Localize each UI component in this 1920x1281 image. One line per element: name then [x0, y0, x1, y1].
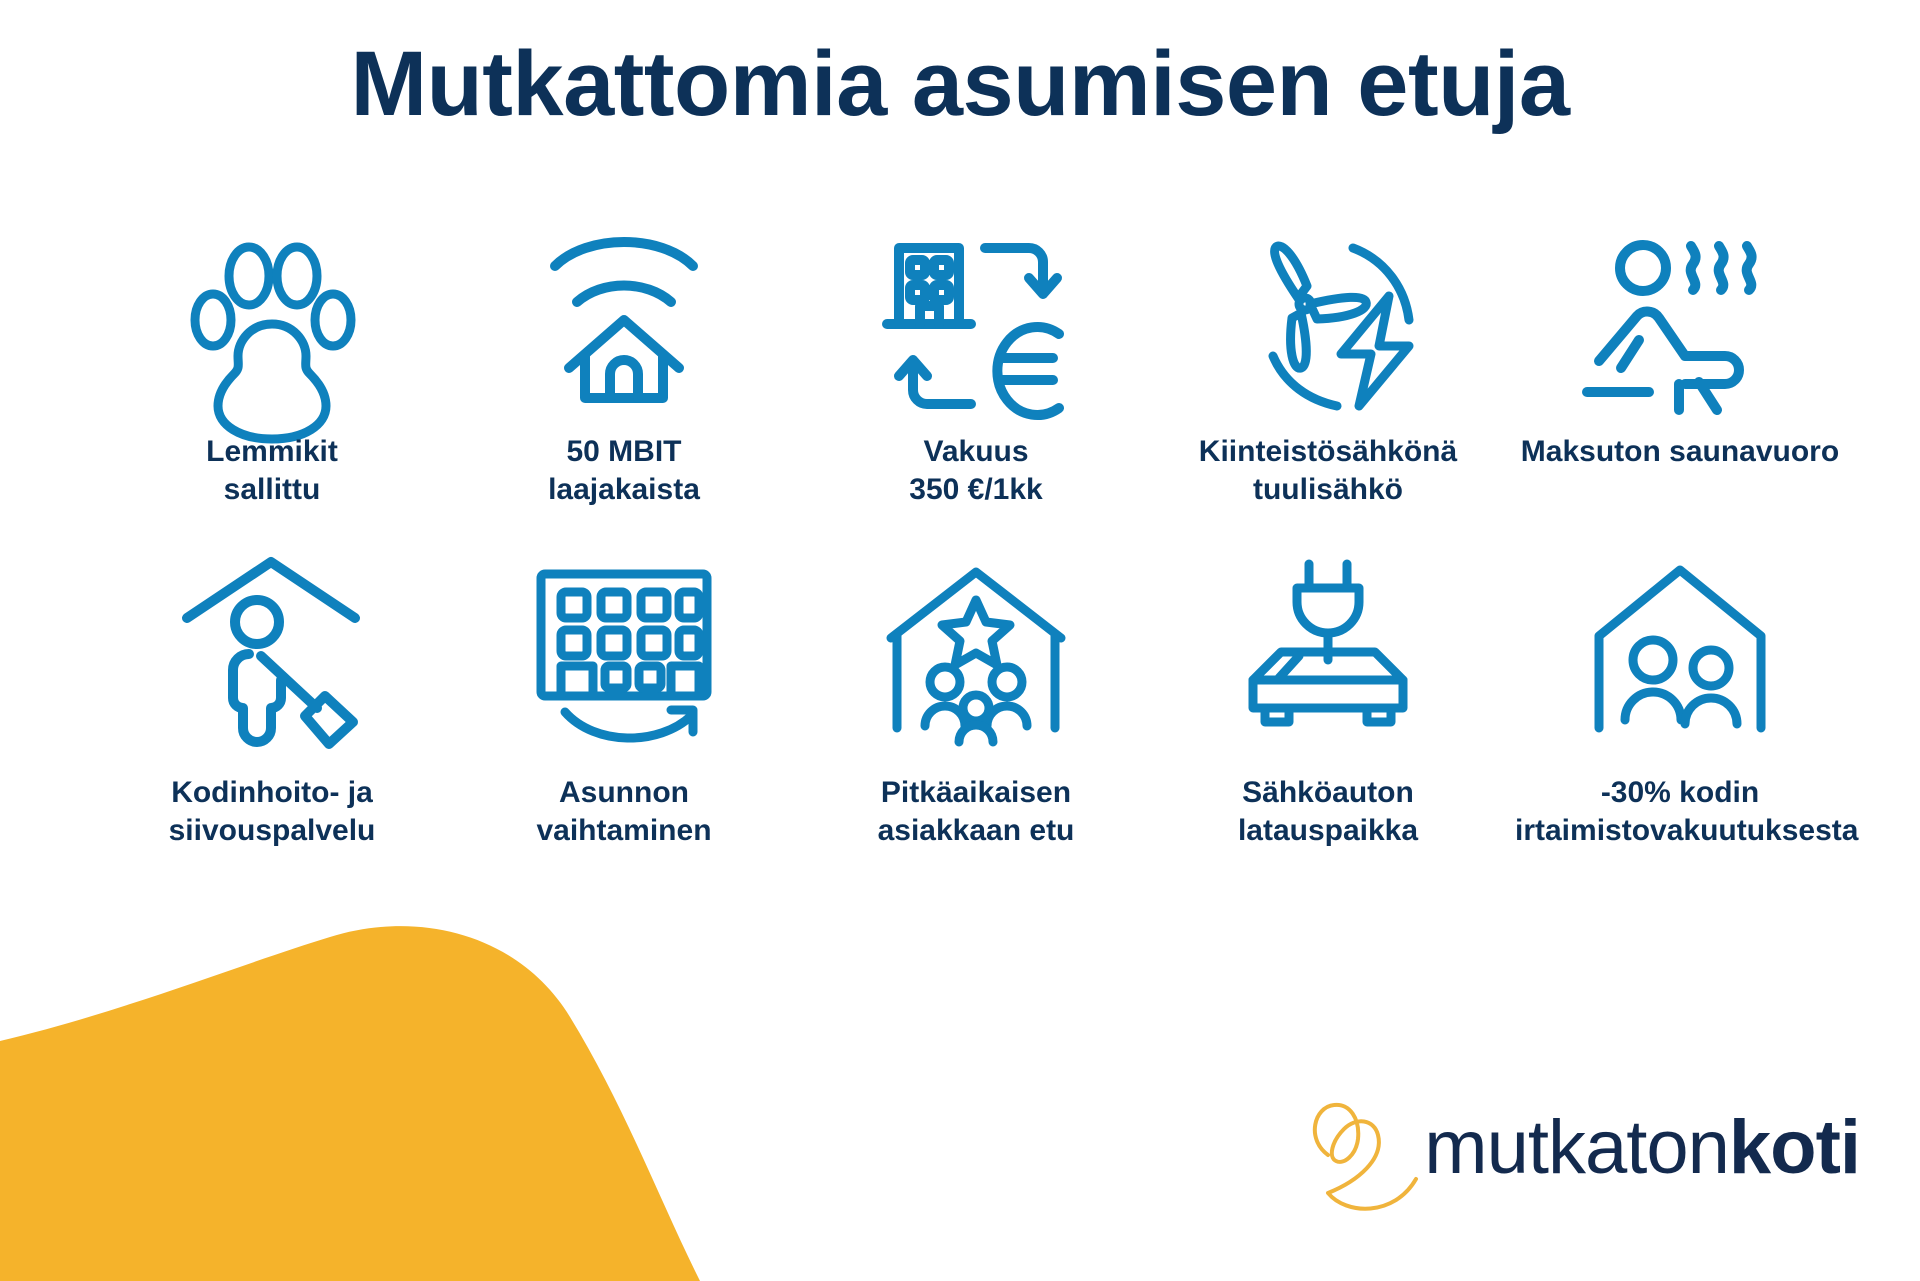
building-euro-exchange-icon — [861, 228, 1091, 423]
benefit-label: 50 MBIT laajakaista — [548, 433, 700, 510]
apartment-swap-icon — [509, 556, 739, 756]
benefit-label: Sähköauton latauspaikka — [1238, 774, 1418, 851]
benefit-item-sauna: Maksuton saunavuoro — [1504, 228, 1856, 510]
cleaning-person-icon — [157, 556, 387, 756]
wifi-house-icon — [509, 228, 739, 423]
home-insurance-people-icon — [1565, 556, 1795, 756]
benefits-grid: Lemmikit sallittu 50 MBIT laajakaista — [96, 228, 1856, 851]
infographic-poster: Mutkattomia asumisen etuja Lemmikit sall… — [0, 0, 1920, 1281]
benefit-item-ev-charging: Sähköauton latauspaikka — [1152, 556, 1504, 851]
benefit-label: Pitkäaikaisen asiakkaan etu — [878, 774, 1075, 851]
benefit-item-cleaning: Kodinhoito- ja siivouspalvelu — [96, 556, 448, 851]
benefit-label: Maksuton saunavuoro — [1521, 433, 1839, 471]
logo-word-light: mutkaton — [1424, 1105, 1729, 1190]
paw-print-icon — [157, 228, 387, 423]
benefit-label: Lemmikit sallittu — [206, 433, 338, 510]
benefit-item-deposit: Vakuus 350 €/1kk — [800, 228, 1152, 510]
family-star-house-icon — [861, 556, 1091, 756]
sauna-person-icon — [1565, 228, 1795, 423]
benefit-item-home-insurance: -30% kodin irtaimistovakuutuksesta — [1504, 556, 1856, 851]
benefit-label: Asunnon vaihtaminen — [536, 774, 711, 851]
brand-logo[interactable]: mutkatonkoti — [1298, 1083, 1860, 1223]
benefit-label: -30% kodin irtaimistovakuutuksesta — [1515, 774, 1845, 851]
logo-word-bold: koti — [1729, 1105, 1860, 1190]
benefit-item-pets: Lemmikit sallittu — [96, 228, 448, 510]
heart-swoosh-icon — [1298, 1083, 1438, 1223]
benefit-item-apartment-swap: Asunnon vaihtaminen — [448, 556, 800, 851]
benefit-item-broadband: 50 MBIT laajakaista — [448, 228, 800, 510]
decorative-orange-blob — [0, 921, 760, 1281]
page-title: Mutkattomia asumisen etuja — [0, 36, 1920, 133]
benefit-item-loyalty: Pitkäaikaisen asiakkaan etu — [800, 556, 1152, 851]
benefit-label: Kodinhoito- ja siivouspalvelu — [169, 774, 376, 851]
wind-turbine-power-icon — [1213, 228, 1443, 423]
benefit-label: Vakuus 350 €/1kk — [909, 433, 1042, 510]
benefit-item-wind-power: Kiinteistösähkönä tuulisähkö — [1152, 228, 1504, 510]
ev-charging-car-icon — [1213, 556, 1443, 756]
logo-wordmark: mutkatonkoti — [1424, 1110, 1860, 1186]
benefit-label: Kiinteistösähkönä tuulisähkö — [1199, 433, 1457, 510]
